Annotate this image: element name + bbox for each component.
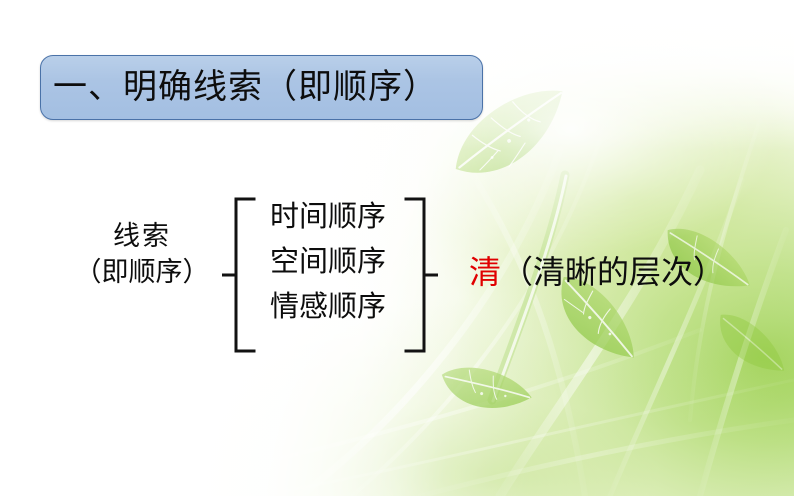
clue-order-diagram: 线索 （即顺序） 时间顺序 空间顺序 情感顺序 清（清晰的层次） [0, 190, 794, 370]
list-item: 空间顺序 [250, 240, 406, 285]
root-label-line2: （即顺序） [62, 254, 222, 290]
list-item: 时间顺序 [250, 195, 406, 240]
slide-canvas: 一、明确线索（即顺序） 线索 （即顺序） 时间顺序 空间顺序 情感顺序 [0, 0, 794, 496]
result-accent-char: 清 [469, 254, 501, 290]
list-item: 情感顺序 [250, 285, 406, 330]
diagram-root-label: 线索 （即顺序） [62, 218, 222, 290]
section-title-box: 一、明确线索（即顺序） [40, 55, 483, 120]
right-bracket-icon [404, 195, 438, 355]
section-title-text: 一、明确线索（即顺序） [53, 71, 438, 105]
diagram-result-text: 清（清晰的层次） [469, 252, 725, 292]
order-item-list: 时间顺序 空间顺序 情感顺序 [250, 195, 406, 330]
root-label-line1: 线索 [62, 218, 222, 254]
result-rest-text: （清晰的层次） [501, 254, 725, 290]
